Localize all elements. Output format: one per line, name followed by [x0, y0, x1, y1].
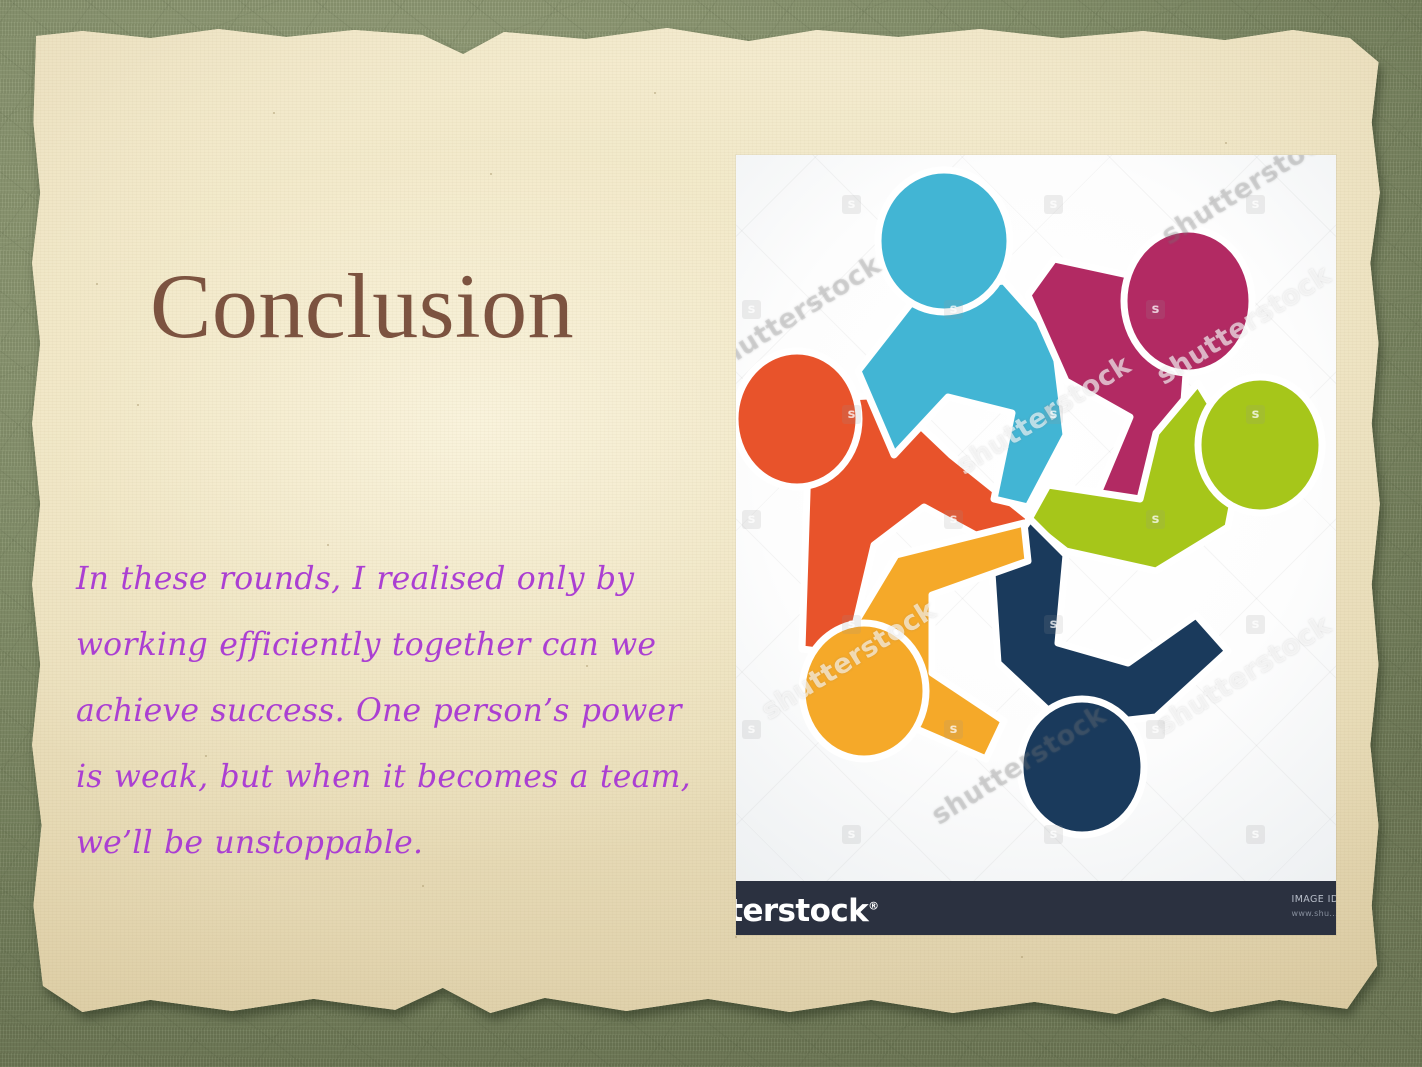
slide: Conclusion In these rounds, I realised o… — [0, 0, 1422, 1067]
conclusion-body-text: In these rounds, I realised only by work… — [76, 546, 706, 876]
teamwork-figures-svg — [736, 155, 1336, 881]
image-url-label: www.shu... — [1292, 907, 1337, 921]
registered-mark-icon: ® — [868, 900, 878, 913]
image-id-label: IMAGE ID: 2 — [1292, 893, 1337, 907]
shutterstock-logo: tterstock® — [736, 893, 879, 929]
figure-navy-shape — [992, 519, 1228, 835]
teamwork-illustration-canvas: shutterstock shutterstock shutterstock s… — [736, 155, 1336, 881]
teamwork-image[interactable]: shutterstock shutterstock shutterstock s… — [736, 155, 1336, 935]
shutterstock-logo-text: tterstock — [736, 893, 868, 929]
shutterstock-footer-bar: tterstock® IMAGE ID: 2 www.shu... — [736, 881, 1336, 935]
figure-lime-shape — [1028, 377, 1322, 571]
page-title: Conclusion — [150, 258, 710, 355]
image-meta: IMAGE ID: 2 www.shu... — [1292, 893, 1337, 921]
